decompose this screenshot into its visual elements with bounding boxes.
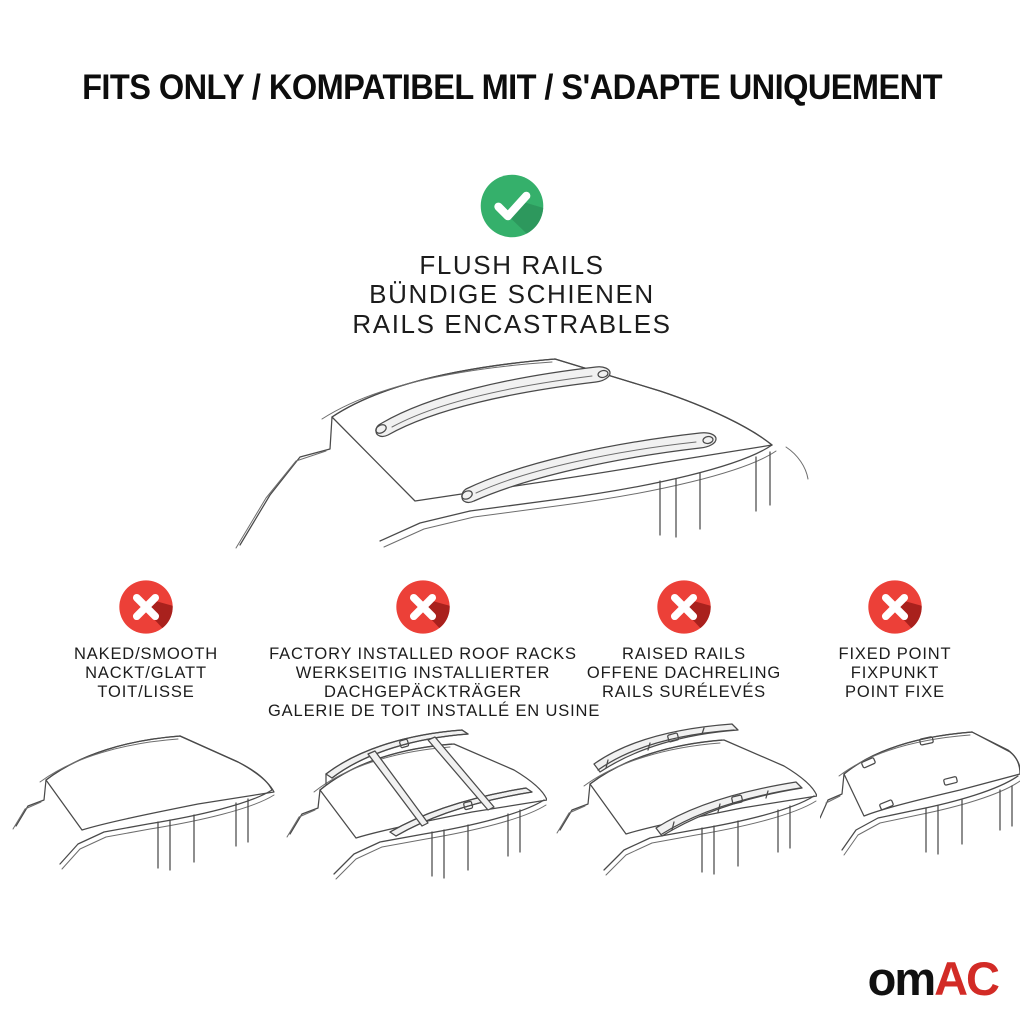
incompatible-column-factory-racks: FACTORY INSTALLED ROOF RACKS WERKSEITIG … <box>268 578 578 722</box>
car-roof-fixed-point-illustration <box>820 718 1020 918</box>
incompatible-labels-fixed-point: FIXED POINT FIXPUNKT POINT FIXE <box>800 645 990 702</box>
red-cross-circle-icon <box>394 578 452 636</box>
logo-text-red: AC <box>934 955 998 1002</box>
car-roof-factory-racks-illustration <box>282 718 547 918</box>
label-en: FACTORY INSTALLED ROOF RACKS <box>268 645 578 664</box>
label-en: NAKED/SMOOTH <box>26 645 266 664</box>
label-en: FIXED POINT <box>800 645 990 664</box>
car-roof-raised-rails-illustration <box>552 718 817 918</box>
label-fr: RAILS SURÉLEVÉS <box>580 683 788 702</box>
compatible-labels: FLUSH RAILS BÜNDIGE SCHIENEN RAILS ENCAS… <box>0 251 1024 339</box>
incompatible-labels-raised-rails: RAISED RAILS OFFENE DACHRELING RAILS SUR… <box>580 645 788 702</box>
compatible-label-en: FLUSH RAILS <box>0 251 1024 280</box>
car-roof-flush-rails-illustration <box>0 345 1024 560</box>
compatible-section: FLUSH RAILS BÜNDIGE SCHIENEN RAILS ENCAS… <box>0 172 1024 560</box>
incompatible-labels-naked-smooth: NAKED/SMOOTH NACKT/GLATT TOIT/LISSE <box>26 645 266 702</box>
label-de: WERKSEITIG INSTALLIERTER <box>268 664 578 683</box>
red-cross-circle-icon <box>866 578 924 636</box>
label-en: RAISED RAILS <box>580 645 788 664</box>
green-check-circle-icon <box>478 172 546 240</box>
label-de: FIXPUNKT <box>800 664 990 683</box>
label-de-2: DACHGEPÄCKTRÄGER <box>268 683 578 702</box>
incompatible-labels-factory-racks: FACTORY INSTALLED ROOF RACKS WERKSEITIG … <box>268 645 578 722</box>
red-cross-circle-icon <box>117 578 175 636</box>
label-de: OFFENE DACHRELING <box>580 664 788 683</box>
compatible-label-de: BÜNDIGE SCHIENEN <box>0 280 1024 309</box>
label-fr: TOIT/LISSE <box>26 683 266 702</box>
omac-logo: om AC <box>868 955 998 1002</box>
logo-text-dark: om <box>868 955 935 1002</box>
label-fr: POINT FIXE <box>800 683 990 702</box>
header: FITS ONLY / KOMPATIBEL MIT / S'ADAPTE UN… <box>0 68 1024 108</box>
incompatible-illustrations <box>0 718 1024 918</box>
page-title: FITS ONLY / KOMPATIBEL MIT / S'ADAPTE UN… <box>36 68 988 108</box>
label-de: NACKT/GLATT <box>26 664 266 683</box>
compatible-label-fr: RAILS ENCASTRABLES <box>0 310 1024 339</box>
car-roof-naked-illustration <box>8 718 278 918</box>
incompatible-column-raised-rails: RAISED RAILS OFFENE DACHRELING RAILS SUR… <box>580 578 788 702</box>
incompatible-column-naked-smooth: NAKED/SMOOTH NACKT/GLATT TOIT/LISSE <box>26 578 266 702</box>
red-cross-circle-icon <box>655 578 713 636</box>
incompatible-column-fixed-point: FIXED POINT FIXPUNKT POINT FIXE <box>800 578 990 702</box>
